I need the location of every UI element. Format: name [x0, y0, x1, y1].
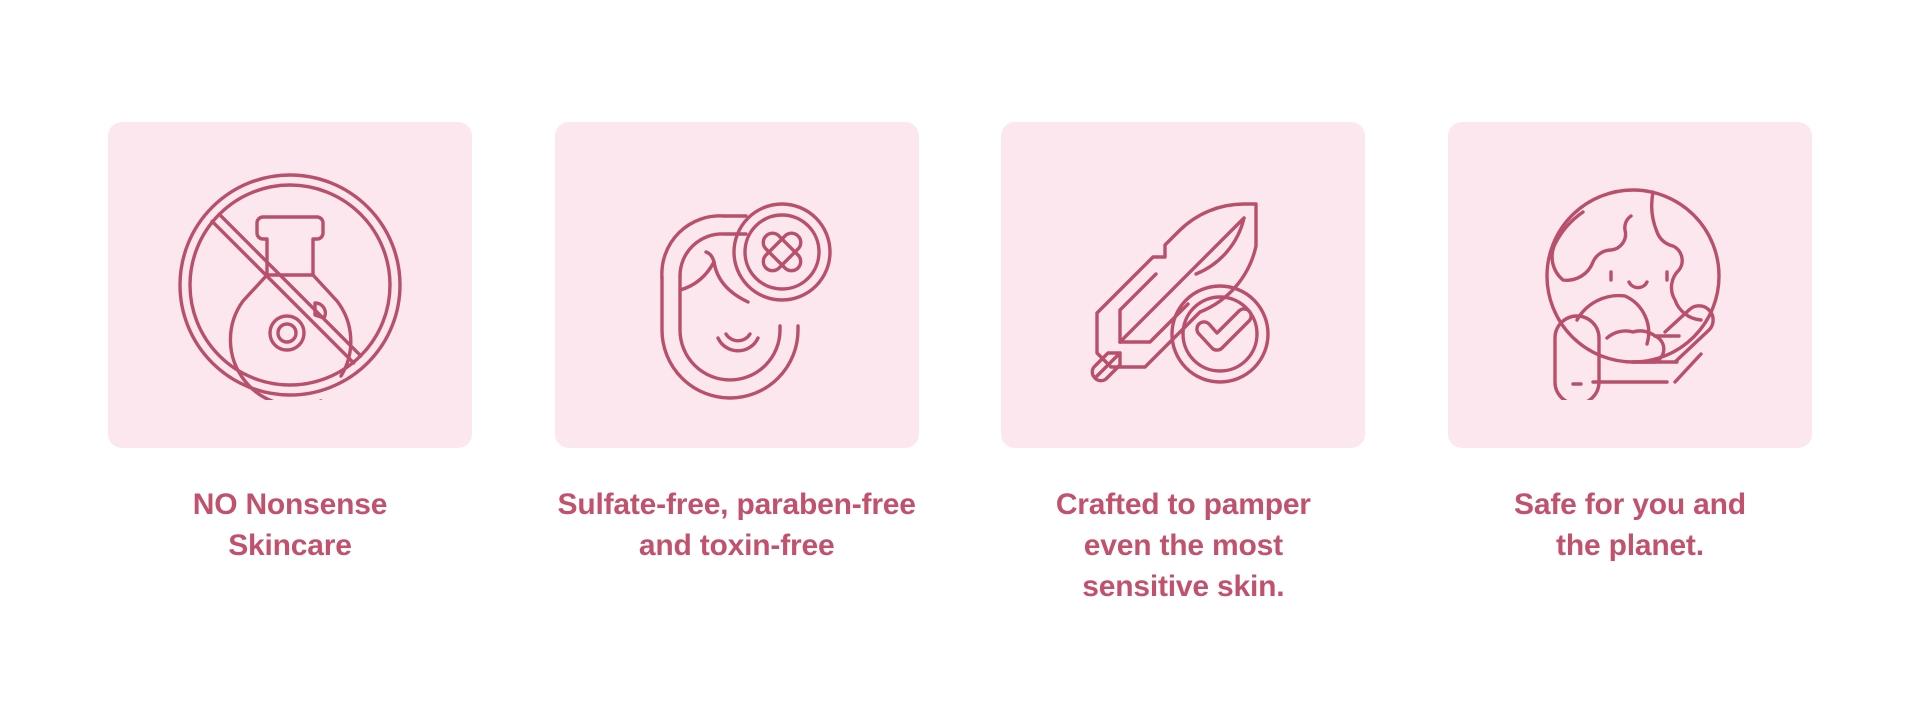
feature-caption: NO Nonsense Skincare	[108, 484, 472, 566]
icon-tile	[108, 122, 472, 448]
earth-in-hand-icon	[1515, 170, 1745, 400]
face-no-sulfates-icon	[622, 170, 852, 400]
feature-card-no-nonsense: NO Nonsense Skincare	[108, 122, 472, 566]
feature-card-sulfate-free: Sulfate-free, paraben-free and toxin-fre…	[555, 122, 919, 566]
no-chemicals-flask-icon	[175, 170, 405, 400]
features-row: NO Nonsense Skincare	[108, 122, 1812, 607]
feature-card-planet-safe: Safe for you and the planet.	[1448, 122, 1812, 566]
icon-tile	[1448, 122, 1812, 448]
feature-caption: Safe for you and the planet.	[1448, 484, 1812, 566]
feature-caption: Crafted to pamper even the most sensitiv…	[1001, 484, 1365, 607]
features-section: NO Nonsense Skincare	[0, 0, 1920, 720]
icon-tile	[555, 122, 919, 448]
icon-tile	[1001, 122, 1365, 448]
feature-caption: Sulfate-free, paraben-free and toxin-fre…	[555, 484, 919, 566]
feather-gentle-approved-icon	[1068, 170, 1298, 400]
feature-card-gentle: Crafted to pamper even the most sensitiv…	[1001, 122, 1365, 607]
